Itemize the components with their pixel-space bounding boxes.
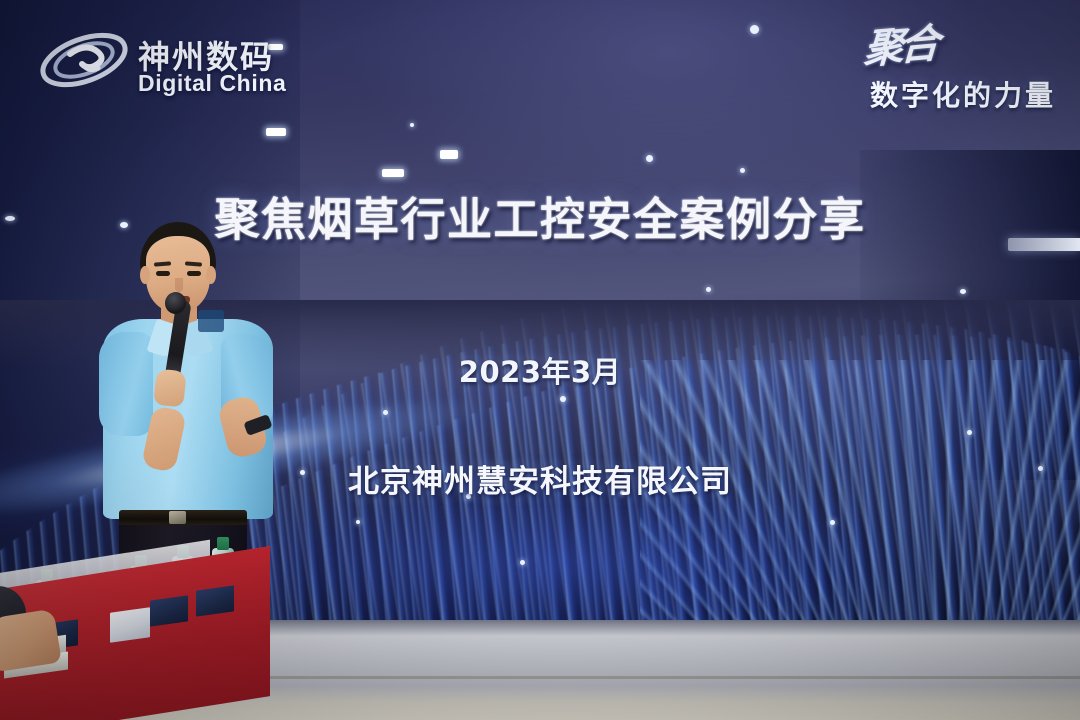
digital-china-logo: 神州数码 Digital China [38,18,298,100]
particle-dot [560,396,566,402]
event-subtitle: 数字化的力量 [870,74,1056,114]
name-card [110,607,150,643]
particle-dot [356,520,360,524]
particle-dot [750,25,759,34]
speaker-belt-buckle [169,511,186,524]
particle-dot [646,155,653,162]
speaker-eye-right [187,271,201,276]
event-brush-text: 聚合 [863,11,938,76]
particle-dot [383,410,388,415]
particle-dot [740,168,745,173]
particle-dot [410,123,414,127]
speaker-nose [175,278,183,292]
particle-dot [706,287,711,292]
particle-dash [382,169,404,177]
speaker-eye-left [156,271,170,276]
digital-china-swirl-icon [38,24,130,96]
particle-dot [960,289,966,294]
speaker-hand-left [153,369,187,408]
particle-dot [520,560,525,565]
event-logo: 聚合 数字化的力量 [786,14,1056,114]
conference-photo: 神州数码 Digital China 聚合 数字化的力量 聚焦烟草行业工控安全案… [0,0,1080,720]
speaker-ear-right [206,266,216,284]
particle-dot [830,520,835,525]
particle-dash [440,150,458,159]
speaker-ear-left [140,266,150,284]
particle-dash [266,128,286,136]
brand-name-en: Digital China [138,70,286,97]
name-card [150,595,188,626]
particle-dot [967,430,972,435]
speaker-sleeve-left [99,332,153,436]
speaker-shirt-logo-patch [198,310,224,332]
name-card [196,585,234,616]
